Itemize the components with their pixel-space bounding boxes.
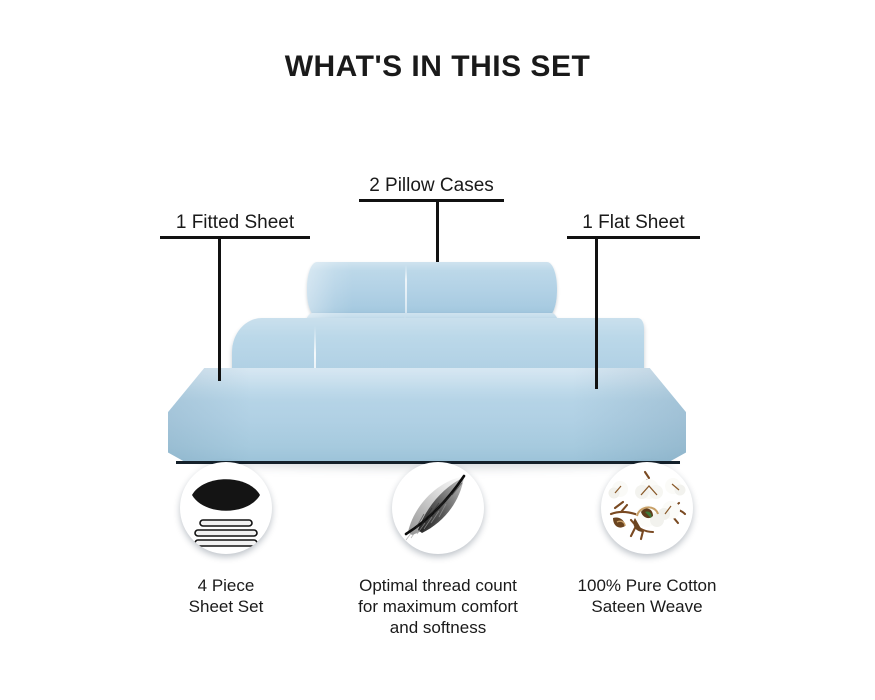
callout-fitted-sheet: 1 Fitted Sheet xyxy=(160,212,310,239)
feature-caption-material: 100% Pure Cotton Sateen Weave xyxy=(556,575,738,617)
callout-flat-sheet: 1 Flat Sheet xyxy=(567,212,700,239)
pillow-case-top-cap xyxy=(307,262,353,317)
feature-caption-piece-count: 4 Piece Sheet Set xyxy=(146,575,306,617)
callout-flat-sheet-label: 1 Flat Sheet xyxy=(567,212,700,234)
callout-fitted-sheet-stem xyxy=(218,239,221,381)
callout-fitted-sheet-rule xyxy=(160,236,310,239)
infographic-canvas: WHAT'S IN THIS SET xyxy=(0,0,875,700)
flat-sheet xyxy=(168,368,686,464)
feature-badge-piece-count xyxy=(180,462,272,554)
callout-pillow-cases: 2 Pillow Cases xyxy=(359,175,504,202)
feature-badge-thread-count xyxy=(392,462,484,554)
callout-pillow-cases-rule xyxy=(359,199,504,202)
folded-sheets-icon xyxy=(180,462,272,554)
feature-badge-material xyxy=(601,462,693,554)
feather-icon xyxy=(392,462,484,554)
flat-sheet-left-shade xyxy=(168,368,251,464)
callout-pillow-cases-stem xyxy=(436,202,439,262)
cotton-boll-icon xyxy=(601,462,693,554)
feature-caption-thread-count: Optimal thread count for maximum comfort… xyxy=(330,575,546,638)
pillow-case-top xyxy=(307,262,557,317)
callout-pillow-cases-label: 2 Pillow Cases xyxy=(359,175,504,197)
flat-sheet-right-shade xyxy=(572,368,686,464)
callout-fitted-sheet-label: 1 Fitted Sheet xyxy=(160,212,310,234)
pillow-case-top-seam xyxy=(405,265,407,313)
callout-flat-sheet-stem xyxy=(595,239,598,389)
callout-flat-sheet-rule xyxy=(567,236,700,239)
